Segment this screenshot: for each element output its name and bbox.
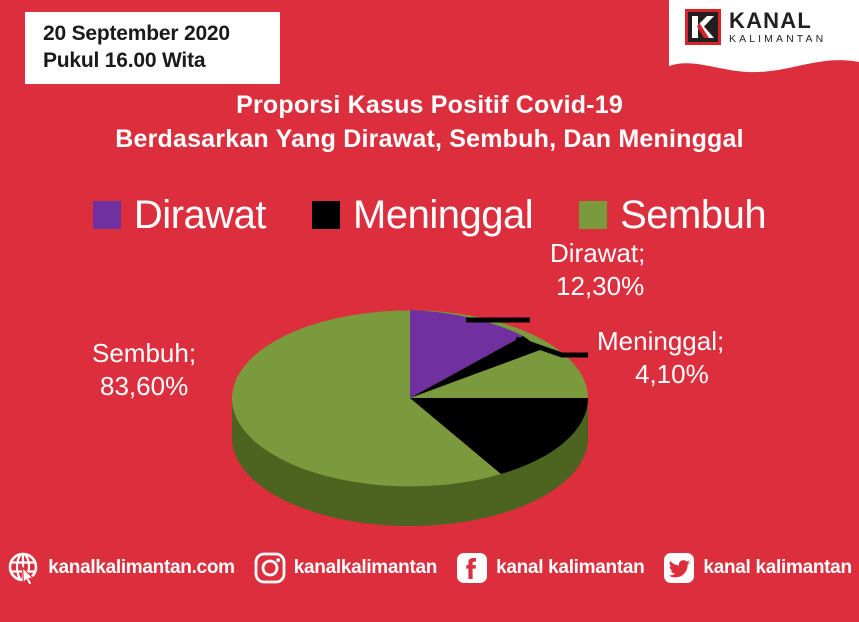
chart-title-line-2: Berdasarkan Yang Dirawat, Sembuh, Dan Me… bbox=[0, 122, 859, 156]
instagram-icon bbox=[253, 551, 287, 585]
legend-item-meninggal: Meninggal bbox=[312, 193, 533, 237]
date-box: 20 September 2020 Pukul 16.00 Wita bbox=[25, 12, 280, 84]
callout-meninggal-value: 4,10% bbox=[597, 358, 724, 391]
kanal-k-logo-icon bbox=[685, 9, 721, 45]
infographic-canvas: 20 September 2020 Pukul 16.00 Wita KANAL… bbox=[0, 0, 859, 622]
legend-item-sembuh: Sembuh bbox=[579, 193, 766, 237]
brand-wordmark: KANAL KALIMANTAN bbox=[729, 10, 826, 45]
callout-sembuh: Sembuh; 83,60% bbox=[92, 337, 196, 403]
brand-panel: KANAL KALIMANTAN bbox=[669, 0, 859, 78]
social-facebook-handle: kanal kalimantan bbox=[496, 557, 644, 579]
legend-label-dirawat: Dirawat bbox=[134, 193, 266, 237]
legend-swatch-icon bbox=[312, 201, 340, 229]
callout-dirawat: Dirawat; 12,30% bbox=[550, 237, 645, 303]
callout-sembuh-value: 83,60% bbox=[92, 370, 196, 403]
callout-meninggal: Meninggal; 4,10% bbox=[597, 325, 724, 391]
social-website[interactable]: kanalkalimantan.com bbox=[7, 551, 235, 585]
chart-title-line-1: Proporsi Kasus Positif Covid-19 bbox=[0, 88, 859, 122]
callout-meninggal-line-1: Meninggal; bbox=[597, 326, 724, 356]
social-twitter-handle: kanal kalimantan bbox=[703, 557, 851, 579]
chart-legend: Dirawat Meninggal Sembuh bbox=[0, 193, 859, 237]
social-facebook[interactable]: kanal kalimantan bbox=[455, 551, 644, 585]
callout-sembuh-line-1: Sembuh; bbox=[92, 338, 196, 368]
chart-title: Proporsi Kasus Positif Covid-19 Berdasar… bbox=[0, 88, 859, 156]
social-twitter[interactable]: kanal kalimantan bbox=[662, 551, 851, 585]
social-website-handle: kanalkalimantan.com bbox=[48, 557, 235, 579]
legend-swatch-icon bbox=[93, 201, 121, 229]
legend-item-dirawat: Dirawat bbox=[93, 193, 266, 237]
legend-swatch-icon bbox=[579, 201, 607, 229]
social-instagram-handle: kanalkalimantan bbox=[294, 557, 437, 579]
legend-label-sembuh: Sembuh bbox=[620, 193, 766, 237]
callout-dirawat-value: 12,30% bbox=[550, 270, 645, 303]
facebook-icon bbox=[455, 551, 489, 585]
callout-dirawat-line-1: Dirawat; bbox=[550, 238, 645, 268]
social-instagram[interactable]: kanalkalimantan bbox=[253, 551, 437, 585]
globe-cursor-icon bbox=[7, 551, 41, 585]
footer-social-bar: kanalkalimantan.com kanalkalimantan kana… bbox=[0, 544, 859, 592]
date-line-2: Pukul 16.00 Wita bbox=[43, 47, 266, 74]
legend-label-meninggal: Meninggal bbox=[353, 193, 533, 237]
brand-lockup: KANAL KALIMANTAN bbox=[685, 9, 826, 45]
brand-name-top: KANAL bbox=[729, 10, 826, 32]
date-line-1: 20 September 2020 bbox=[43, 20, 266, 47]
twitter-icon bbox=[662, 551, 696, 585]
brand-name-bottom: KALIMANTAN bbox=[729, 34, 826, 45]
pie-chart bbox=[210, 295, 610, 530]
